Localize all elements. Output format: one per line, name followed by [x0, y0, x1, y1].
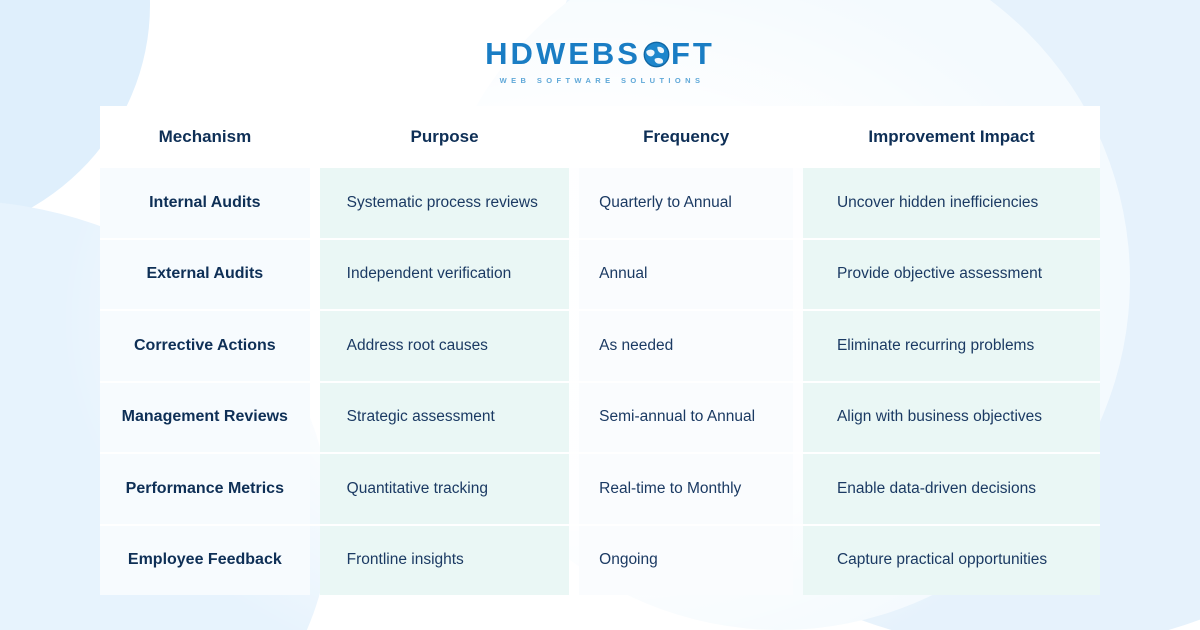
cell-purpose: Systematic process reviews: [320, 168, 570, 238]
brand-logo: HDWEBS FT WEB SOFTWARE SOLUTIONS: [0, 36, 1200, 88]
cell-mechanism: Management Reviews: [100, 383, 310, 453]
cell-improvement-impact: Align with business objectives: [803, 383, 1100, 453]
column-gap: [310, 454, 320, 524]
column-gap: [310, 106, 320, 168]
cell-purpose: Independent verification: [320, 240, 570, 310]
cell-frequency: Annual: [579, 240, 793, 310]
column-gap: [310, 311, 320, 381]
table-header-row: Mechanism Purpose Frequency Improvement …: [100, 106, 1100, 168]
column-gap: [793, 168, 803, 238]
column-gap: [793, 311, 803, 381]
column-gap: [569, 383, 579, 453]
column-header-frequency: Frequency: [579, 106, 793, 168]
cell-improvement-impact: Eliminate recurring problems: [803, 311, 1100, 381]
logo-text-before-globe: HDWEBS: [485, 38, 641, 69]
table-row: Corrective Actions Address root causes A…: [100, 311, 1100, 381]
column-gap: [569, 311, 579, 381]
cell-frequency: Semi-annual to Annual: [579, 383, 793, 453]
cell-frequency: Real-time to Monthly: [579, 454, 793, 524]
cell-mechanism: External Audits: [100, 240, 310, 310]
cell-frequency: Quarterly to Annual: [579, 168, 793, 238]
column-gap: [793, 240, 803, 310]
column-gap: [569, 454, 579, 524]
table-row: External Audits Independent verification…: [100, 240, 1100, 310]
column-header-purpose: Purpose: [320, 106, 569, 168]
table-row: Performance Metrics Quantitative trackin…: [100, 454, 1100, 524]
logo-wordmark: HDWEBS FT: [485, 36, 715, 70]
column-gap: [793, 383, 803, 453]
column-gap: [793, 454, 803, 524]
column-gap: [569, 240, 579, 310]
table-row: Internal Audits Systematic process revie…: [100, 168, 1100, 238]
column-gap: [793, 106, 803, 168]
cell-improvement-impact: Uncover hidden inefficiencies: [803, 168, 1100, 238]
table-row: Employee Feedback Frontline insights Ong…: [100, 526, 1100, 596]
column-gap: [310, 168, 320, 238]
column-gap: [310, 383, 320, 453]
cell-purpose: Quantitative tracking: [320, 454, 570, 524]
cell-frequency: As needed: [579, 311, 793, 381]
cell-mechanism: Performance Metrics: [100, 454, 310, 524]
column-gap: [310, 240, 320, 310]
globe-icon: [643, 41, 670, 68]
logo-text-after-globe: FT: [671, 38, 715, 69]
column-gap: [793, 526, 803, 596]
cell-improvement-impact: Capture practical opportunities: [803, 526, 1100, 596]
table-row: Management Reviews Strategic assessment …: [100, 383, 1100, 453]
column-header-improvement-impact: Improvement Impact: [803, 106, 1100, 168]
column-gap: [310, 526, 320, 596]
logo-wrap: HDWEBS FT WEB SOFTWARE SOLUTIONS: [485, 36, 715, 85]
cell-improvement-impact: Enable data-driven decisions: [803, 454, 1100, 524]
column-gap: [569, 168, 579, 238]
column-gap: [569, 106, 579, 168]
cell-purpose: Strategic assessment: [320, 383, 570, 453]
cell-purpose: Address root causes: [320, 311, 570, 381]
cell-mechanism: Corrective Actions: [100, 311, 310, 381]
column-header-mechanism: Mechanism: [100, 106, 310, 168]
logo-tagline: WEB SOFTWARE SOLUTIONS: [485, 77, 715, 85]
cell-mechanism: Employee Feedback: [100, 526, 310, 596]
column-gap: [569, 526, 579, 596]
cell-mechanism: Internal Audits: [100, 168, 310, 238]
cell-frequency: Ongoing: [579, 526, 793, 596]
cell-improvement-impact: Provide objective assessment: [803, 240, 1100, 310]
comparison-table: Mechanism Purpose Frequency Improvement …: [100, 106, 1100, 595]
cell-purpose: Frontline insights: [320, 526, 570, 596]
